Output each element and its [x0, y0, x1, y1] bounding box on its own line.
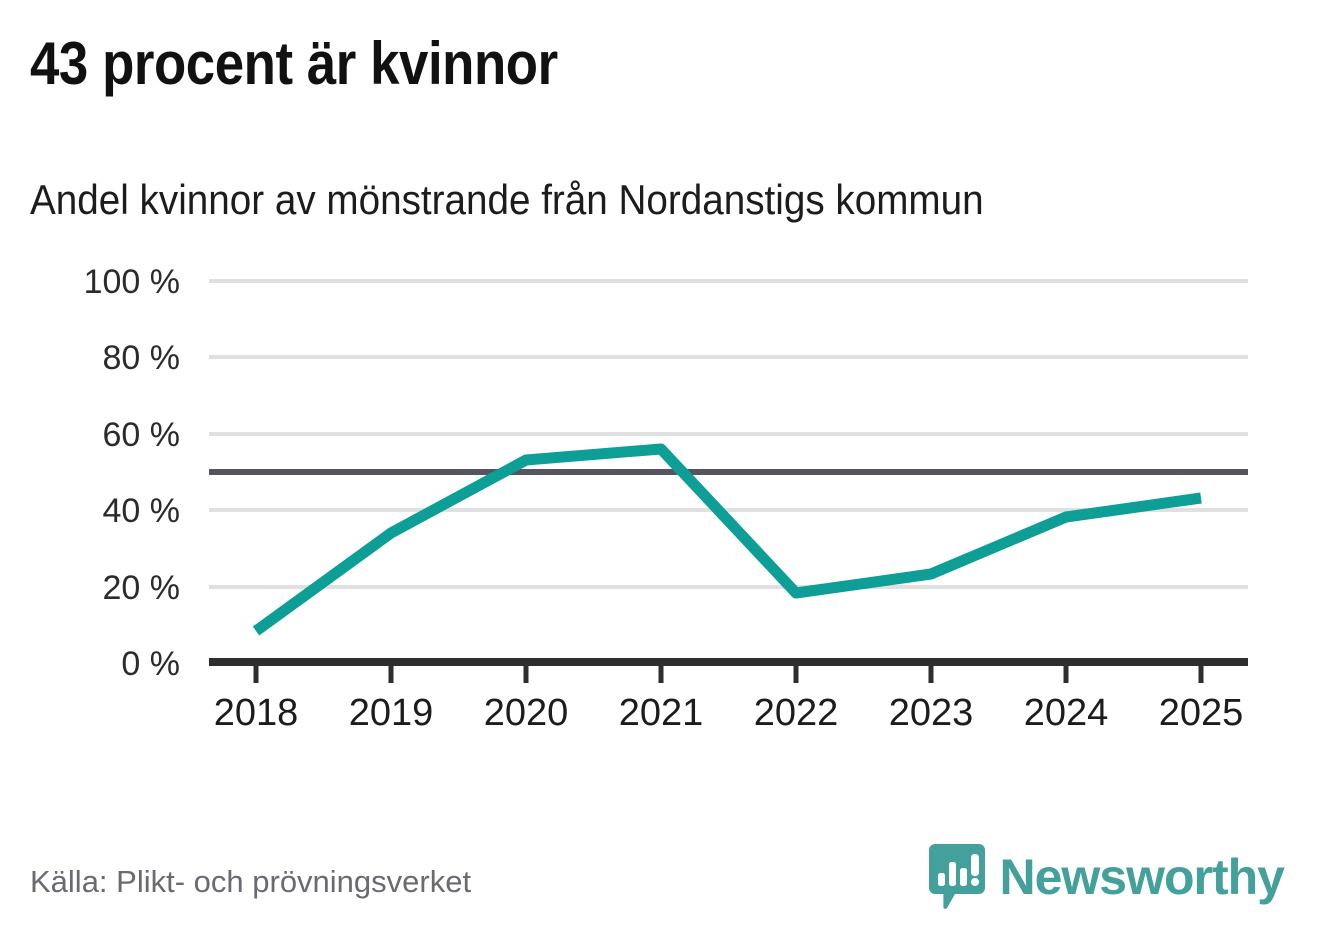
gridlines	[209, 281, 1248, 587]
data-line-andel-kvinnor	[256, 449, 1201, 631]
brand-name: Newsworthy	[999, 852, 1284, 902]
page-title: 43 procent är kvinnor	[30, 28, 558, 100]
x-tick-label-2023: 2023	[889, 692, 974, 734]
y-tick-label-20: 20 %	[103, 569, 181, 607]
x-axis-labels: 2018 2019 2020 2021 2022 2023 2024 2025	[214, 692, 1244, 734]
y-tick-label-40: 40 %	[103, 492, 181, 530]
y-tick-label-60: 60 %	[103, 416, 181, 454]
y-axis-labels: 100 % 80 % 60 % 40 % 20 % 0 %	[84, 263, 180, 683]
chart-subtitle: Andel kvinnor av mönstrande från Nordans…	[30, 174, 984, 226]
x-tick-label-2025: 2025	[1159, 692, 1244, 734]
x-tick-label-2022: 2022	[754, 692, 839, 734]
source-note: Källa: Plikt- och prövningsverket	[30, 862, 471, 902]
speech-bubble-bar-chart-icon	[929, 842, 985, 912]
x-tick-label-2020: 2020	[484, 692, 569, 734]
newsworthy-logo: Newsworthy	[929, 842, 1284, 912]
y-tick-label-100: 100 %	[84, 263, 180, 301]
line-chart: 100 % 80 % 60 % 40 % 20 % 0 %	[0, 255, 1322, 745]
chart-page: 43 procent är kvinnor Andel kvinnor av m…	[0, 0, 1322, 939]
x-tick-label-2019: 2019	[349, 692, 434, 734]
x-tick-label-2021: 2021	[619, 692, 704, 734]
x-tick-label-2018: 2018	[214, 692, 299, 734]
chart-svg: 100 % 80 % 60 % 40 % 20 % 0 %	[0, 255, 1322, 745]
y-tick-label-80: 80 %	[103, 339, 181, 377]
y-tick-label-0: 0 %	[121, 645, 180, 683]
x-tick-label-2024: 2024	[1024, 692, 1109, 734]
